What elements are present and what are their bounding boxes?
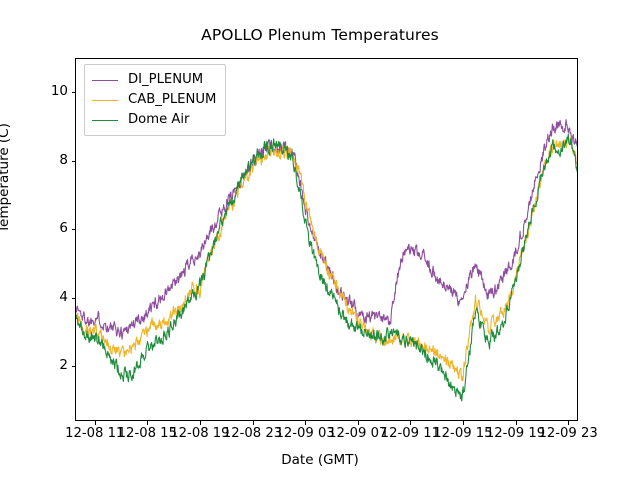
legend-item-label: DI_PLENUM <box>128 73 203 86</box>
y-tick-label: 2 <box>59 359 68 373</box>
x-tick-label: 12-08 11 <box>65 427 124 440</box>
chart-figure: APOLLO Plenum Temperatures Temperature (… <box>0 0 640 480</box>
x-tick-label: 12-08 15 <box>118 427 177 440</box>
x-tick-mark <box>305 421 306 425</box>
legend-item-label: Dome Air <box>128 113 189 126</box>
x-tick-label: 12-09 07 <box>328 427 387 440</box>
y-tick-label: 6 <box>59 222 68 236</box>
x-tick-label: 12-09 23 <box>538 427 597 440</box>
chart-title: APOLLO Plenum Temperatures <box>0 26 640 44</box>
x-tick-label: 12-08 19 <box>170 427 229 440</box>
x-tick-mark <box>410 421 411 425</box>
legend-item-label: CAB_PLENUM <box>128 93 216 106</box>
x-tick-label: 12-09 19 <box>486 427 545 440</box>
x-tick-mark <box>253 421 254 425</box>
legend-color-swatch <box>92 100 118 101</box>
y-tick-label: 4 <box>59 291 68 305</box>
legend-item[interactable]: CAB_PLENUM <box>92 90 216 110</box>
x-tick-mark <box>516 421 517 425</box>
legend-color-swatch <box>92 80 118 81</box>
y-tick-label: 8 <box>59 154 68 168</box>
x-tick-label: 12-09 03 <box>275 427 334 440</box>
x-axis-label: Date (GMT) <box>0 452 640 468</box>
legend-color-swatch <box>92 120 118 121</box>
x-tick-mark <box>568 421 569 425</box>
legend-item[interactable]: Dome Air <box>92 110 216 130</box>
x-tick-mark <box>358 421 359 425</box>
y-tick-label: 10 <box>51 85 68 99</box>
x-tick-label: 12-09 15 <box>433 427 492 440</box>
x-tick-label: 12-09 11 <box>381 427 440 440</box>
x-tick-label: 12-08 23 <box>223 427 282 440</box>
x-tick-mark <box>95 421 96 425</box>
x-tick-mark <box>147 421 148 425</box>
x-tick-mark <box>463 421 464 425</box>
y-axis-label: Temperature (C) <box>0 28 12 328</box>
x-tick-mark <box>200 421 201 425</box>
series-line-di-plenum <box>76 120 577 339</box>
chart-legend: DI_PLENUMCAB_PLENUMDome Air <box>84 64 226 136</box>
legend-item[interactable]: DI_PLENUM <box>92 70 216 90</box>
